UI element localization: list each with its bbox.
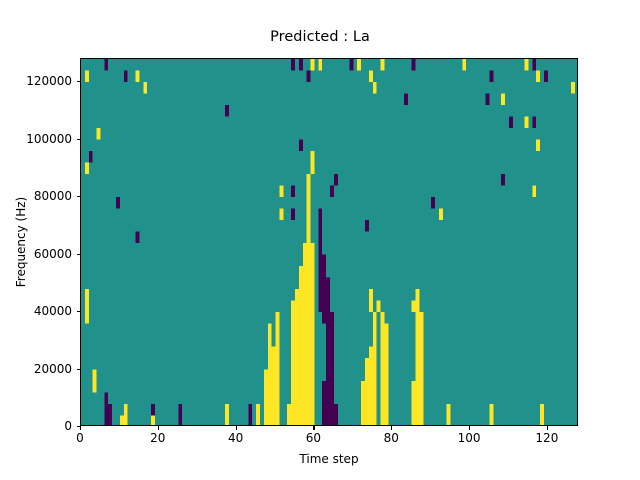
- y-tick-label: 100000: [0, 132, 72, 146]
- matplotlib-figure: Predicted : La Frequency (Hz) 0200004000…: [0, 0, 640, 480]
- x-tick-label: 0: [50, 431, 110, 445]
- y-tick-label: 120000: [0, 74, 72, 88]
- y-tick-label: 60000: [0, 247, 72, 261]
- x-tick-label: 80: [361, 431, 421, 445]
- heatmap-image: [81, 59, 578, 426]
- y-tick-label: 40000: [0, 304, 72, 318]
- x-tick-label: 20: [128, 431, 188, 445]
- x-tick-mark: [469, 426, 470, 430]
- x-axis-label: Time step: [80, 452, 578, 466]
- heatmap-plot-area[interactable]: [80, 58, 578, 426]
- page-title: Predicted : La: [0, 29, 640, 45]
- x-tick-mark: [313, 426, 314, 430]
- x-tick-mark: [391, 426, 392, 430]
- x-tick-mark: [80, 426, 81, 430]
- x-tick-label: 40: [206, 431, 266, 445]
- x-tick-mark: [158, 426, 159, 430]
- y-tick-label: 80000: [0, 189, 72, 203]
- x-tick-label: 100: [439, 431, 499, 445]
- x-tick-label: 60: [283, 431, 343, 445]
- x-tick-label: 120: [517, 431, 577, 445]
- x-tick-mark: [547, 426, 548, 430]
- y-tick-label: 20000: [0, 362, 72, 376]
- x-tick-mark: [236, 426, 237, 430]
